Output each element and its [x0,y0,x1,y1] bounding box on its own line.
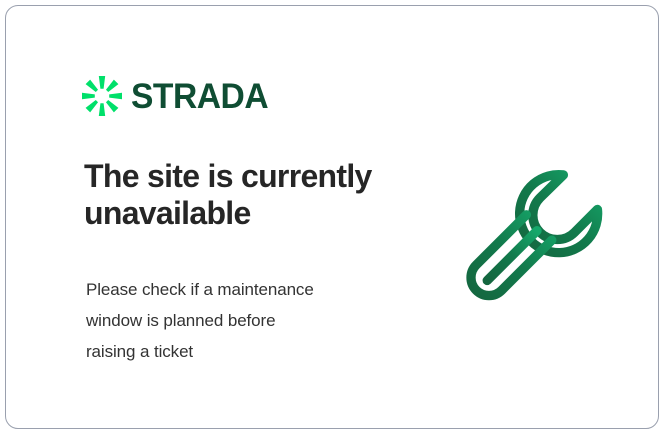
strada-starburst-icon [82,76,122,116]
brand-lockup: STRADA [82,76,274,116]
wrench-icon [458,154,624,320]
maintenance-page: STRADA The site is currently unavailable… [0,0,666,436]
message-body-line: window is planned before [86,305,416,336]
message-body-line: Please check if a maintenance [86,274,416,305]
message-body: Please check if a maintenance window is … [86,274,416,367]
message-body-line: raising a ticket [86,336,416,367]
brand-wordmark: STRADA [131,79,268,114]
page-title: The site is currently unavailable [84,158,424,233]
maintenance-card: STRADA The site is currently unavailable… [5,5,659,429]
